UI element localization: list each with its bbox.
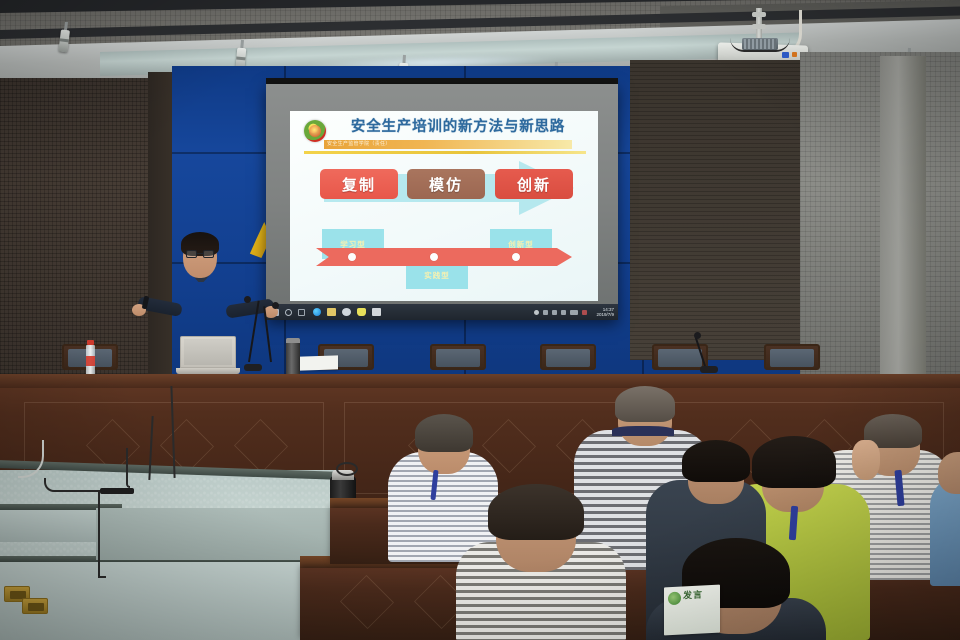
slide-title: 安全生产培训的新方法与新思路 [332, 117, 584, 138]
volume-icon[interactable] [561, 310, 566, 315]
microphone-base [700, 366, 718, 373]
timeline-dot [430, 253, 438, 261]
attendee-dark-shirt-hair [682, 440, 750, 482]
right-acoustic-wall [630, 60, 800, 360]
auditorium-scene: 安全生产培训的新方法与新思路 安全生产监管学院（责任） 复制 模仿 创新 学习型… [0, 0, 960, 640]
slide-subtitle: 安全生产监管学院（责任） [327, 140, 391, 149]
stage-chair [430, 344, 486, 378]
search-icon[interactable] [285, 309, 292, 316]
stage-step [0, 560, 340, 640]
microphone-base [244, 364, 262, 371]
thermos-flask [286, 338, 300, 378]
tray-icon[interactable] [582, 310, 587, 315]
water-bottle [86, 340, 95, 376]
microphone-head-icon [244, 296, 251, 303]
task-view-icon[interactable] [298, 309, 305, 316]
attendee-front-left-hair [488, 484, 584, 540]
microphone-head-icon [694, 332, 701, 339]
slide-box-copy: 复制 [320, 169, 398, 199]
national-emblem-logo-icon [304, 120, 326, 142]
app-icon[interactable] [342, 308, 351, 316]
stage-chair [764, 344, 820, 378]
slide-header-rule [304, 151, 586, 154]
tray-icon[interactable] [534, 310, 539, 315]
thermos-handle [336, 462, 358, 476]
presentation-slide: 安全生产培训的新方法与新思路 安全生产监管学院（责任） 复制 模仿 创新 学习型… [290, 111, 598, 301]
stage-desk-top [0, 374, 960, 388]
explorer-icon[interactable] [327, 308, 336, 316]
attendee-check-shirt-hair [415, 414, 473, 452]
attendee-green-polo-hair [752, 436, 836, 488]
timeline-dot [512, 253, 520, 261]
windows-taskbar[interactable]: 14:37 2019/7/9 [266, 304, 618, 320]
network-icon[interactable] [552, 310, 557, 315]
cable [126, 448, 130, 488]
attendee-striped-polo-hair [615, 386, 675, 422]
taskbar-date[interactable]: 2019/7/9 [596, 312, 614, 317]
collar [612, 426, 674, 436]
slide-box-innovate: 创新 [495, 169, 573, 199]
edge-icon[interactable] [313, 308, 321, 316]
app-icon[interactable] [372, 308, 381, 316]
name-placard: 发言 [664, 585, 720, 636]
tray-icon[interactable] [543, 310, 548, 315]
battery-icon[interactable] [570, 310, 578, 315]
cable [44, 478, 100, 492]
slide-box-imitate: 模仿 [407, 169, 485, 199]
timeline-dot [348, 253, 356, 261]
presenter-laptop [176, 336, 240, 378]
stage-chair [540, 344, 596, 378]
placard-text: 发言 [683, 589, 703, 601]
right-pillar [880, 56, 926, 386]
eyeglasses-icon [186, 250, 214, 258]
floor-power-outlet [22, 598, 48, 614]
app-icon[interactable] [357, 308, 366, 316]
cable [98, 490, 106, 578]
microphone-head-icon [272, 302, 279, 309]
cable-connector [100, 488, 134, 494]
stage-riser-face [96, 508, 340, 560]
attendee-hand [852, 440, 880, 480]
stage-name-card [300, 355, 338, 370]
green-circle-logo-icon [668, 592, 681, 606]
